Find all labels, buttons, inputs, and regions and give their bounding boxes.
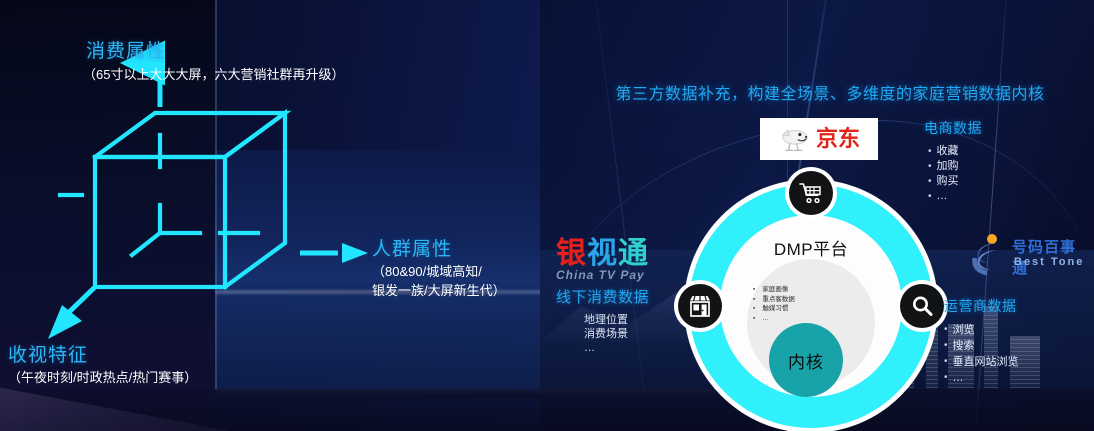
item-label: 收藏	[937, 144, 959, 159]
item-label: 加购	[937, 159, 959, 174]
list-item: •收藏	[928, 144, 1074, 159]
offline-consumption-items: 地理位置 消费场景 …	[584, 313, 716, 355]
axis-sub-crowd-line2: 银发一族/大屏新生代）	[372, 282, 506, 299]
search-icon	[910, 294, 934, 318]
logo-char-3: 通	[618, 237, 649, 270]
dmp-platform-title: DMP平台	[680, 235, 942, 260]
china-tv-pay-logo: 银视通	[556, 238, 716, 270]
list-item: ▪…	[753, 314, 873, 324]
shopping-cart-icon	[799, 182, 823, 204]
node-ecommerce[interactable]	[789, 171, 833, 215]
bullet-icon: •	[944, 354, 948, 369]
three-axis-cube-diagram	[60, 95, 400, 355]
item-label: 垂直网站浏览	[953, 354, 1019, 370]
jd-dog-icon	[778, 126, 812, 152]
jd-logo: 京东	[760, 118, 878, 160]
list-item: •垂直网站浏览	[944, 354, 1094, 370]
list-item: ▪家庭画像	[753, 285, 873, 295]
axis-title-consume: 消费属性	[86, 36, 344, 63]
operator-data-block: 运营商数据 •浏览 •搜索 •垂直网站浏览 •…	[944, 296, 1094, 386]
list-item: ▪重点客数据	[753, 295, 873, 305]
dmp-ring-diagram: DMP平台 ▪家庭画像 ▪重点客数据 ▪触媒习惯 ▪… 内核	[680, 175, 942, 431]
axis-label-crowd: 人群属性 （80&90/城域高知/ 银发一族/大屏新生代）	[372, 234, 506, 299]
list-item: 地理位置	[584, 313, 716, 327]
list-item: •搜索	[944, 338, 1094, 354]
dmp-item-label: …	[762, 314, 769, 324]
item-label: 浏览	[953, 322, 975, 338]
jd-brand-text: 京东	[816, 128, 860, 150]
bullet-icon: ▪	[753, 295, 755, 305]
besttone-mark-icon	[968, 232, 1012, 278]
list-item: •购买	[928, 174, 1074, 189]
bullet-icon: •	[944, 322, 948, 337]
list-item: •加购	[928, 159, 1074, 174]
axis-sub-consume: （65寸以上大大大屏，六大营销社群再升级）	[83, 66, 344, 83]
bullet-icon: •	[944, 370, 948, 385]
offline-consumption-title: 线下消费数据	[556, 286, 716, 307]
list-item: ▪触媒习惯	[753, 304, 873, 314]
list-item: •…	[928, 189, 1074, 204]
bullet-icon: •	[928, 159, 932, 174]
dmp-item-label: 重点客数据	[762, 295, 795, 305]
besttone-logo: 号码百事通 Best Tone	[968, 232, 1088, 280]
list-item: •浏览	[944, 322, 1094, 338]
list-item: •…	[944, 370, 1094, 386]
logo-char-2: 视	[587, 237, 618, 270]
list-item: 消费场景	[584, 327, 716, 341]
item-label: …	[953, 370, 964, 386]
dmp-item-label: 触媒习惯	[762, 304, 788, 314]
bullet-icon: ▪	[753, 314, 755, 324]
node-search-data[interactable]	[900, 284, 944, 328]
operator-items: •浏览 •搜索 •垂直网站浏览 •…	[944, 322, 1094, 386]
axis-sub-viewing: （午夜时刻/时政热点/热门赛事）	[8, 369, 197, 386]
dmp-inner-list: ▪家庭画像 ▪重点客数据 ▪触媒习惯 ▪…	[753, 285, 873, 323]
ecommerce-title: 电商数据	[924, 118, 1074, 138]
bullet-icon: •	[928, 189, 932, 204]
bullet-icon: ▪	[753, 304, 755, 314]
dmp-item-label: 家庭画像	[762, 285, 788, 295]
list-item: …	[584, 341, 716, 355]
bullet-icon: •	[944, 338, 948, 353]
bullet-icon: ▪	[753, 285, 755, 295]
dmp-core-label: 内核	[788, 348, 824, 373]
item-label: 搜索	[953, 338, 975, 354]
bullet-icon: •	[928, 144, 932, 159]
axis-sub-crowd-line1: （80&90/城域高知/	[372, 263, 506, 280]
dmp-core-circle: 内核	[769, 323, 843, 397]
ecommerce-items: •收藏 •加购 •购买 •…	[928, 144, 1074, 204]
besttone-en-text: Best Tone	[1014, 256, 1084, 268]
page-title: 第三方数据补充，构建全场景、多维度的家庭营销数据内核	[590, 80, 1070, 104]
axis-label-consume: 消费属性 （65寸以上大大大屏，六大营销社群再升级）	[86, 36, 344, 83]
china-tv-pay-logo-en: China TV Pay	[556, 268, 716, 282]
axis-title-crowd: 人群属性	[372, 234, 506, 261]
axis-label-viewing: 收视特征 （午夜时刻/时政热点/热门赛事）	[8, 340, 197, 386]
logo-char-1: 银	[556, 237, 587, 270]
axis-title-viewing: 收视特征	[8, 340, 197, 367]
china-tv-pay-block: 银视通 China TV Pay 线下消费数据 地理位置 消费场景 …	[556, 238, 716, 355]
slide-canvas: 消费属性 （65寸以上大大大屏，六大营销社群再升级） 人群属性 （80&90/城…	[0, 0, 1094, 431]
item-label: 购买	[937, 174, 959, 189]
operator-title: 运营商数据	[944, 296, 1094, 316]
ecommerce-data-block: 电商数据 •收藏 •加购 •购买 •…	[924, 118, 1074, 204]
bullet-icon: •	[928, 174, 932, 189]
item-label: …	[937, 189, 948, 204]
